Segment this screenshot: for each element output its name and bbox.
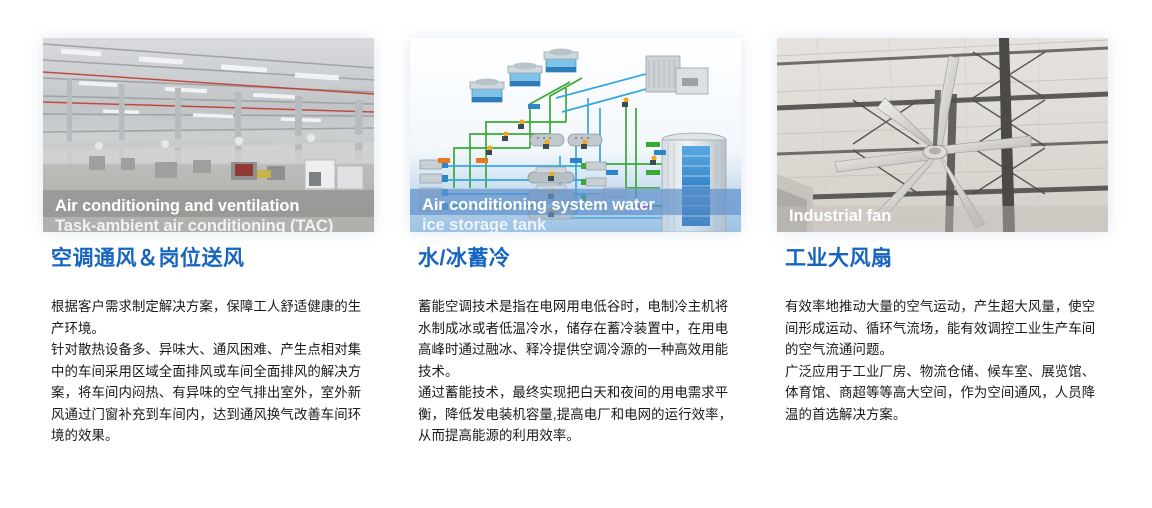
card-paragraph: 根据客户需求制定解决方案，保障工人舒适健康的生产环境。 — [51, 296, 370, 339]
card-body: 根据客户需求制定解决方案，保障工人舒适健康的生产环境。 针对散热设备多、异味大、… — [43, 296, 374, 447]
card-water-ice-storage[interactable]: Air conditioning system water ice storag… — [410, 38, 741, 447]
system-diagram — [410, 38, 741, 232]
card-image-industrial-fan[interactable]: Industrial fan — [777, 38, 1108, 232]
card-heading-cn: 工业大风扇 — [777, 246, 1108, 272]
card-industrial-fan[interactable]: Industrial fan 工业大风扇 有效率地推动大量的空气运动，产生超大风… — [777, 38, 1108, 447]
workshop-photo — [43, 38, 374, 232]
card-air-conditioning-ventilation[interactable]: Air conditioning and ventilation Task-am… — [43, 38, 374, 447]
card-paragraph: 通过蓄能技术，最终实现把白天和夜间的用电需求平衡，降低发电装机容量,提高电厂和电… — [418, 382, 737, 447]
card-heading-cn: 空调通风＆岗位送风 — [43, 246, 374, 272]
card-body: 蓄能空调技术是指在电网用电低谷时，电制冷主机将水制成冰或者低温冷水，储存在蓄冷装… — [410, 296, 741, 447]
card-paragraph: 针对散热设备多、异味大、通风困难、产生点相对集中的车间采用区域全面排风或车间全面… — [51, 339, 370, 447]
cards-row: Air conditioning and ventilation Task-am… — [0, 0, 1152, 447]
ceiling-fan-photo — [777, 38, 1108, 232]
card-paragraph: 有效率地推动大量的空气运动，产生超大风量，使空间形成运动、循环气流场，能有效调控… — [785, 296, 1104, 361]
card-heading-cn: 水/冰蓄冷 — [410, 246, 741, 272]
card-image-air-conditioning-ventilation[interactable]: Air conditioning and ventilation Task-am… — [43, 38, 374, 232]
product-cards-page: Air conditioning and ventilation Task-am… — [0, 0, 1152, 508]
card-image-water-ice-storage[interactable]: Air conditioning system water ice storag… — [410, 38, 741, 232]
card-paragraph: 广泛应用于工业厂房、物流仓储、候车室、展览馆、体育馆、商超等等高大空间，作为空间… — [785, 361, 1104, 426]
card-paragraph: 蓄能空调技术是指在电网用电低谷时，电制冷主机将水制成冰或者低温冷水，储存在蓄冷装… — [418, 296, 737, 382]
card-body: 有效率地推动大量的空气运动，产生超大风量，使空间形成运动、循环气流场，能有效调控… — [777, 296, 1108, 425]
